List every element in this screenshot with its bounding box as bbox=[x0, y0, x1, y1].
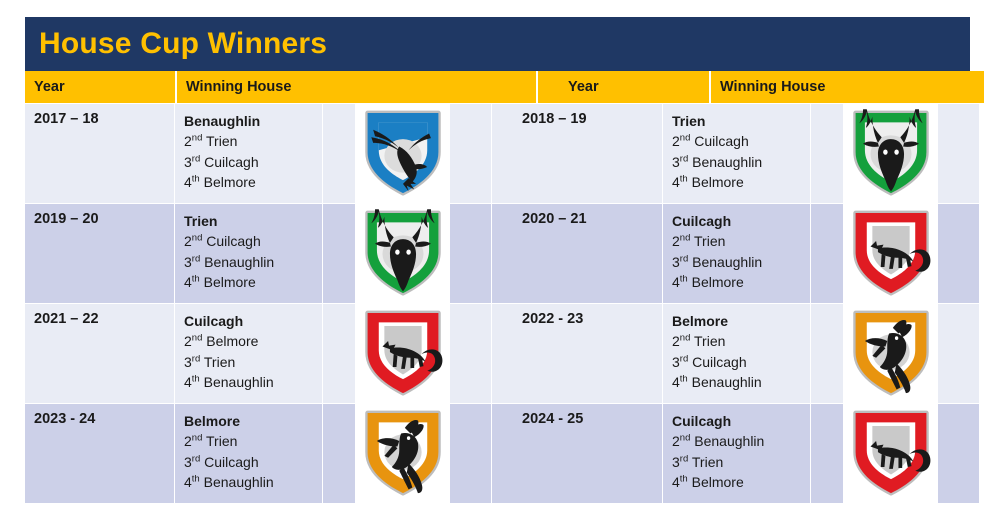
place-suffix: rd bbox=[680, 353, 688, 364]
place-suffix: rd bbox=[680, 253, 688, 264]
year-value: 2020 – 21 bbox=[522, 211, 662, 227]
placing-line: 2nd Belmore bbox=[184, 331, 322, 351]
cell-spacer bbox=[811, 304, 843, 404]
place-suffix: th bbox=[192, 474, 200, 485]
place-house: Benaughlin bbox=[688, 374, 762, 390]
place-house: Benaughlin bbox=[200, 374, 274, 390]
cell-center-gutter bbox=[492, 404, 513, 504]
cell-center-gutter bbox=[492, 304, 513, 404]
place-rank: 3 bbox=[184, 354, 192, 370]
cell-winning-house: Belmore2nd Trien3rd Cuilcagh4th Benaughl… bbox=[175, 404, 323, 504]
cell-tail-spacer bbox=[450, 104, 492, 204]
winning-house-name: Cuilcagh bbox=[672, 211, 810, 231]
place-rank: 4 bbox=[672, 174, 680, 190]
place-house: Benaughlin bbox=[200, 254, 274, 270]
place-house: Trien bbox=[688, 454, 723, 470]
header-gutter bbox=[538, 71, 559, 103]
trien-stag-crest-cell bbox=[843, 104, 938, 204]
place-suffix: th bbox=[192, 374, 200, 385]
placing-line: 3rd Cuilcagh bbox=[184, 152, 322, 172]
placing-line: 3rd Cuilcagh bbox=[184, 452, 322, 472]
place-house: Trien bbox=[202, 133, 237, 149]
place-house: Cuilcagh bbox=[690, 133, 748, 149]
slide-canvas: House Cup Winners Year Winning House Yea… bbox=[0, 0, 984, 523]
placing-line: 2nd Trien bbox=[672, 331, 810, 351]
place-house: Cuilcagh bbox=[688, 354, 746, 370]
cell-winning-house: Benaughlin2nd Trien3rd Cuilcagh4th Belmo… bbox=[175, 104, 323, 204]
cell-spacer bbox=[323, 304, 355, 404]
cell-spacer bbox=[323, 204, 355, 304]
placing-line: 2nd Trien bbox=[184, 431, 322, 451]
cuilcagh-fox-crest bbox=[850, 409, 932, 499]
trien-stag-crest bbox=[362, 209, 444, 299]
place-suffix: rd bbox=[192, 453, 200, 464]
cell-tail-spacer bbox=[938, 104, 980, 204]
place-suffix: rd bbox=[192, 153, 200, 164]
cuilcagh-fox-crest bbox=[850, 209, 932, 299]
place-suffix: nd bbox=[680, 233, 691, 244]
placing-line: 2nd Cuilcagh bbox=[184, 231, 322, 251]
benaughlin-eagle-crest-cell bbox=[355, 104, 450, 204]
place-rank: 3 bbox=[672, 454, 680, 470]
place-suffix: th bbox=[680, 374, 688, 385]
year-value: 2022 - 23 bbox=[522, 311, 662, 327]
winning-house-name: Belmore bbox=[672, 311, 810, 331]
place-house: Trien bbox=[690, 233, 725, 249]
winning-house-name: Trien bbox=[672, 111, 810, 131]
placing-line: 4th Belmore bbox=[672, 272, 810, 292]
belmore-hare-crest bbox=[362, 409, 444, 499]
placing-line: 4th Belmore bbox=[672, 172, 810, 192]
place-house: Trien bbox=[690, 333, 725, 349]
year-value: 2019 – 20 bbox=[34, 211, 174, 227]
cell-spacer bbox=[323, 404, 355, 504]
table-row: 2021 – 22Cuilcagh2nd Belmore3rd Trien4th… bbox=[25, 304, 970, 404]
place-suffix: th bbox=[192, 274, 200, 285]
belmore-hare-crest-cell bbox=[355, 404, 450, 504]
cell-year: 2018 – 19 bbox=[513, 104, 663, 204]
place-house: Benaughlin bbox=[200, 474, 274, 490]
place-house: Belmore bbox=[200, 274, 256, 290]
year-value: 2018 – 19 bbox=[522, 111, 662, 127]
cell-year: 2017 – 18 bbox=[25, 104, 175, 204]
cell-year: 2020 – 21 bbox=[513, 204, 663, 304]
cuilcagh-fox-crest bbox=[362, 309, 444, 399]
place-rank: 4 bbox=[184, 174, 192, 190]
table-row: 2023 - 24Belmore2nd Trien3rd Cuilcagh4th… bbox=[25, 404, 970, 504]
place-suffix: nd bbox=[192, 333, 203, 344]
cell-winning-house: Belmore2nd Trien3rd Cuilcagh4th Benaughl… bbox=[663, 304, 811, 404]
place-rank: 3 bbox=[184, 154, 192, 170]
header-winning-house-left: Winning House bbox=[177, 71, 494, 103]
winning-house-name: Benaughlin bbox=[184, 111, 322, 131]
place-rank: 4 bbox=[184, 374, 192, 390]
place-rank: 4 bbox=[184, 274, 192, 290]
cell-tail-spacer bbox=[938, 304, 980, 404]
placing-line: 3rd Benaughlin bbox=[672, 152, 810, 172]
year-value: 2021 – 22 bbox=[34, 311, 174, 327]
place-rank: 4 bbox=[672, 274, 680, 290]
place-rank: 2 bbox=[672, 333, 680, 349]
place-house: Belmore bbox=[688, 174, 744, 190]
place-rank: 2 bbox=[184, 333, 192, 349]
placing-line: 4th Benaughlin bbox=[184, 372, 322, 392]
place-house: Trien bbox=[200, 354, 235, 370]
winning-house-name: Trien bbox=[184, 211, 322, 231]
year-value: 2023 - 24 bbox=[34, 411, 174, 427]
placing-line: 3rd Cuilcagh bbox=[672, 352, 810, 372]
cell-year: 2021 – 22 bbox=[25, 304, 175, 404]
place-suffix: nd bbox=[192, 233, 203, 244]
place-suffix: nd bbox=[192, 133, 203, 144]
placing-line: 3rd Benaughlin bbox=[672, 252, 810, 272]
cell-tail-spacer bbox=[938, 404, 980, 504]
table-body: 2017 – 18Benaughlin2nd Trien3rd Cuilcagh… bbox=[25, 104, 970, 504]
cuilcagh-fox-crest-cell bbox=[843, 204, 938, 304]
placing-line: 4th Benaughlin bbox=[672, 372, 810, 392]
place-rank: 2 bbox=[672, 233, 680, 249]
place-suffix: th bbox=[680, 474, 688, 485]
cell-tail-spacer bbox=[938, 204, 980, 304]
cell-winning-house: Trien2nd Cuilcagh3rd Benaughlin4th Belmo… bbox=[663, 104, 811, 204]
place-house: Benaughlin bbox=[688, 254, 762, 270]
place-rank: 3 bbox=[672, 254, 680, 270]
place-house: Benaughlin bbox=[688, 154, 762, 170]
place-house: Cuilcagh bbox=[200, 154, 258, 170]
cell-spacer bbox=[811, 204, 843, 304]
belmore-hare-crest-cell bbox=[843, 304, 938, 404]
cell-tail-spacer bbox=[450, 204, 492, 304]
year-value: 2017 – 18 bbox=[34, 111, 174, 127]
cell-year: 2019 – 20 bbox=[25, 204, 175, 304]
title-bar: House Cup Winners bbox=[25, 17, 970, 71]
place-suffix: rd bbox=[680, 153, 688, 164]
place-suffix: th bbox=[680, 174, 688, 185]
place-house: Trien bbox=[202, 433, 237, 449]
header-spacer-left bbox=[494, 71, 536, 103]
year-value: 2024 - 25 bbox=[522, 411, 662, 427]
place-rank: 4 bbox=[672, 474, 680, 490]
place-house: Belmore bbox=[200, 174, 256, 190]
place-rank: 2 bbox=[184, 233, 192, 249]
cell-winning-house: Cuilcagh2nd Trien3rd Benaughlin4th Belmo… bbox=[663, 204, 811, 304]
place-rank: 2 bbox=[184, 433, 192, 449]
place-suffix: rd bbox=[680, 453, 688, 464]
place-suffix: th bbox=[680, 274, 688, 285]
winning-house-name: Cuilcagh bbox=[184, 311, 322, 331]
trien-stag-crest-cell bbox=[355, 204, 450, 304]
place-rank: 2 bbox=[672, 433, 680, 449]
cell-tail-spacer bbox=[450, 404, 492, 504]
place-rank: 3 bbox=[184, 454, 192, 470]
page-title: House Cup Winners bbox=[39, 29, 327, 59]
belmore-hare-crest bbox=[850, 309, 932, 399]
place-rank: 3 bbox=[672, 354, 680, 370]
placing-line: 2nd Benaughlin bbox=[672, 431, 810, 451]
place-house: Belmore bbox=[202, 333, 258, 349]
cell-winning-house: Cuilcagh2nd Belmore3rd Trien4th Benaughl… bbox=[175, 304, 323, 404]
cell-year: 2023 - 24 bbox=[25, 404, 175, 504]
place-house: Cuilcagh bbox=[202, 233, 260, 249]
placing-line: 2nd Trien bbox=[184, 131, 322, 151]
place-house: Cuilcagh bbox=[200, 454, 258, 470]
trien-stag-crest bbox=[850, 109, 932, 199]
cell-tail-spacer bbox=[450, 304, 492, 404]
place-rank: 2 bbox=[672, 133, 680, 149]
placing-line: 3rd Benaughlin bbox=[184, 252, 322, 272]
cell-year: 2024 - 25 bbox=[513, 404, 663, 504]
placing-line: 4th Belmore bbox=[672, 472, 810, 492]
cell-year: 2022 - 23 bbox=[513, 304, 663, 404]
cell-winning-house: Trien2nd Cuilcagh3rd Benaughlin4th Belmo… bbox=[175, 204, 323, 304]
cell-center-gutter bbox=[492, 104, 513, 204]
place-rank: 4 bbox=[184, 474, 192, 490]
place-suffix: rd bbox=[192, 353, 200, 364]
placing-line: 3rd Trien bbox=[672, 452, 810, 472]
place-suffix: th bbox=[192, 174, 200, 185]
table-row: 2019 – 20Trien2nd Cuilcagh3rd Benaughlin… bbox=[25, 204, 970, 304]
place-rank: 2 bbox=[184, 133, 192, 149]
benaughlin-eagle-crest bbox=[362, 109, 444, 199]
place-suffix: rd bbox=[192, 253, 200, 264]
winning-house-name: Belmore bbox=[184, 411, 322, 431]
table-header-row: Year Winning House Year Winning House bbox=[25, 71, 970, 104]
cuilcagh-fox-crest-cell bbox=[843, 404, 938, 504]
place-house: Belmore bbox=[688, 474, 744, 490]
header-year-right: Year bbox=[559, 71, 709, 103]
placing-line: 4th Belmore bbox=[184, 272, 322, 292]
place-rank: 3 bbox=[184, 254, 192, 270]
place-rank: 3 bbox=[672, 154, 680, 170]
cell-spacer bbox=[323, 104, 355, 204]
place-suffix: nd bbox=[680, 433, 691, 444]
house-cup-table: House Cup Winners Year Winning House Yea… bbox=[25, 17, 970, 503]
cell-winning-house: Cuilcagh2nd Benaughlin3rd Trien4th Belmo… bbox=[663, 404, 811, 504]
placing-line: 4th Benaughlin bbox=[184, 472, 322, 492]
place-house: Benaughlin bbox=[690, 433, 764, 449]
cell-center-gutter bbox=[492, 204, 513, 304]
cell-spacer bbox=[811, 404, 843, 504]
cell-spacer bbox=[811, 104, 843, 204]
header-winning-house-right: Winning House bbox=[711, 71, 984, 103]
placing-line: 3rd Trien bbox=[184, 352, 322, 372]
place-suffix: nd bbox=[680, 133, 691, 144]
place-suffix: nd bbox=[192, 433, 203, 444]
place-house: Belmore bbox=[688, 274, 744, 290]
cuilcagh-fox-crest-cell bbox=[355, 304, 450, 404]
place-rank: 4 bbox=[672, 374, 680, 390]
placing-line: 4th Belmore bbox=[184, 172, 322, 192]
place-suffix: nd bbox=[680, 333, 691, 344]
header-year-left: Year bbox=[25, 71, 175, 103]
table-row: 2017 – 18Benaughlin2nd Trien3rd Cuilcagh… bbox=[25, 104, 970, 204]
winning-house-name: Cuilcagh bbox=[672, 411, 810, 431]
placing-line: 2nd Trien bbox=[672, 231, 810, 251]
placing-line: 2nd Cuilcagh bbox=[672, 131, 810, 151]
